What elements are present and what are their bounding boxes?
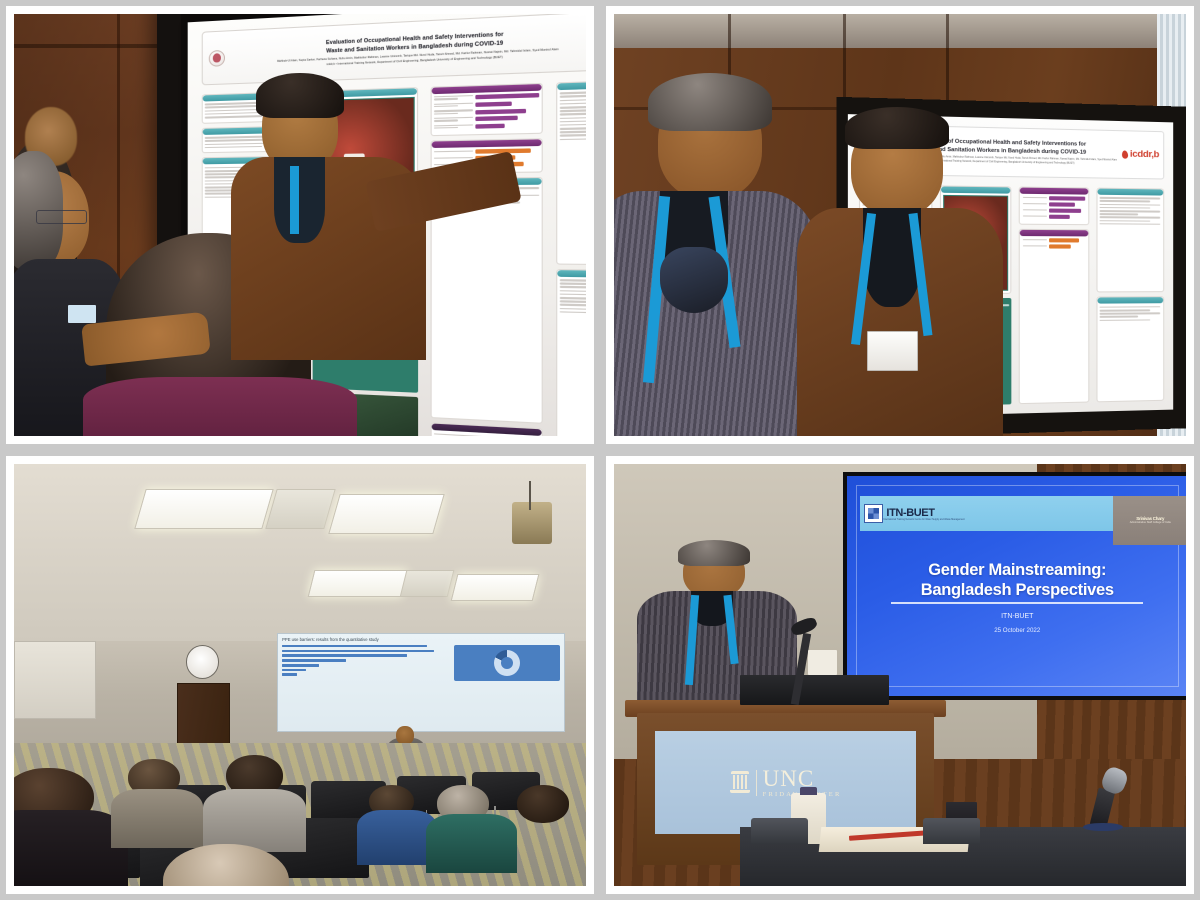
- researcher-left-body: [614, 191, 820, 436]
- poster-column-3: [430, 83, 543, 436]
- ceiling-projector: [512, 502, 552, 544]
- projector-mount: [529, 481, 531, 511]
- photo-panel-two-presenters: Evaluation of Occupational Health and Sa…: [606, 6, 1194, 444]
- photo-image-conference-room: PPE use barriers: results from the quant…: [14, 464, 586, 886]
- photo-panel-podium-presentation: ITN-BUET International Training Network …: [606, 456, 1194, 894]
- lanyard: [290, 166, 300, 235]
- audience-member-head: [517, 785, 568, 823]
- section-header-bar: [431, 139, 542, 148]
- section-header-bar: [1097, 188, 1163, 195]
- section-header-bar: [431, 84, 542, 94]
- researcher-right-jacket: [797, 208, 1003, 436]
- slide-organisation: ITN-BUET: [867, 613, 1167, 620]
- audience-member-body: [426, 814, 518, 873]
- poster-lessons-learned: [556, 269, 586, 436]
- name-tag-affiliation: Administrative Staff College of India: [1130, 521, 1171, 524]
- slide-title-line2: Bangladesh Perspectives: [867, 580, 1167, 600]
- photo-collage: Evaluation of Occupational Health and Sa…: [0, 0, 1200, 900]
- ceiling-light-panel: [400, 570, 455, 597]
- slide-title-block: Gender Mainstreaming: Bangladesh Perspec…: [867, 560, 1167, 634]
- itn-buet-wordmark: ITN-BUET: [886, 507, 964, 519]
- ceiling-light-panel: [329, 494, 445, 534]
- icddrb-logo: icddr,b: [1122, 149, 1159, 161]
- icddrb-wordmark: icddr,b: [1130, 149, 1159, 161]
- projection-screen: PPE use barriers: results from the quant…: [277, 633, 565, 732]
- audience-member-body: [203, 789, 306, 852]
- poster-methodology: [1096, 187, 1164, 292]
- bottle-cap: [800, 787, 817, 795]
- poster-chart-knowledge: [430, 83, 543, 136]
- photo-panel-conference-room: PPE use barriers: results from the quant…: [6, 456, 594, 894]
- poster-section: [430, 423, 543, 436]
- section-header-bar: [1020, 229, 1088, 236]
- slide-name-tag: Srinivas Chary Administrative Staff Coll…: [1113, 496, 1186, 544]
- title-underline: [891, 602, 1143, 604]
- poster-lessons-learned: [1096, 296, 1164, 402]
- old-well-icon: [730, 771, 750, 795]
- laptop: [740, 675, 889, 705]
- ceiling: [614, 14, 1186, 48]
- donut-icon: [494, 650, 520, 676]
- poster-methodology: [556, 78, 586, 266]
- ceiling-light-panel: [134, 489, 273, 529]
- chair-back: [751, 818, 808, 843]
- wall-clock: [186, 645, 219, 679]
- conference-badge: [867, 331, 918, 371]
- poster-column-3: [1019, 186, 1089, 404]
- ceiling-light-panel: [266, 489, 337, 529]
- flame-icon: [1122, 150, 1129, 159]
- poster-title: Evaluation of Occupational Health and Sa…: [225, 26, 586, 70]
- slide-donut-chart: [454, 645, 560, 681]
- chair-back: [923, 818, 980, 843]
- attendee-purple-coat: [83, 377, 358, 436]
- presentation-slide: ITN-BUET International Training Network …: [847, 476, 1186, 696]
- section-header-bar: [557, 270, 586, 278]
- audience-member-body: [111, 789, 203, 848]
- researcher-right-head: [843, 107, 952, 217]
- poster-chart-practices: [1019, 228, 1089, 404]
- presenter-shirt: [274, 157, 325, 242]
- face-mask: [660, 247, 729, 313]
- section-header-bar: [941, 186, 1010, 193]
- photo-panel-poster-presentation: Evaluation of Occupational Health and Sa…: [6, 6, 594, 444]
- poster-chart-knowledge: [1019, 186, 1089, 225]
- photo-image-two-presenters: Evaluation of Occupational Health and Sa…: [614, 14, 1186, 436]
- projection-screen: ITN-BUET International Training Network …: [843, 472, 1186, 700]
- poster-column-4: [556, 78, 586, 436]
- photo-image-podium-presentation: ITN-BUET International Training Network …: [614, 464, 1186, 886]
- slide-date: 25 October 2022: [867, 627, 1167, 634]
- ceiling-light-panel: [451, 574, 540, 601]
- photo-image-poster-presentation: Evaluation of Occupational Health and Sa…: [14, 14, 586, 436]
- podium-paper: [808, 650, 837, 675]
- researcher-left-head: [648, 73, 774, 200]
- slide-title: PPE use barriers: results from the quant…: [278, 634, 564, 642]
- lanyard: [685, 595, 699, 685]
- section-header-bar: [1097, 297, 1163, 303]
- section-header-bar: [1020, 187, 1088, 194]
- poster-column-4: [1096, 187, 1164, 402]
- institution-logo-icon: [208, 50, 224, 67]
- itn-buet-logo-icon: [864, 504, 883, 523]
- slide-title-line1: Gender Mainstreaming:: [867, 560, 1167, 580]
- lanyard: [723, 595, 738, 664]
- wall-whiteboard: [14, 641, 96, 719]
- ceiling-light-panel: [308, 570, 408, 597]
- microphone-base: [1083, 823, 1123, 831]
- name-badge: [68, 305, 96, 322]
- slide-bar-chart: [282, 645, 450, 681]
- itn-buet-subtitle: International Training Network Centre fo…: [883, 519, 964, 521]
- slide-chart-area: [278, 642, 564, 684]
- sign-divider: [756, 770, 757, 796]
- section-header-bar: [557, 79, 586, 90]
